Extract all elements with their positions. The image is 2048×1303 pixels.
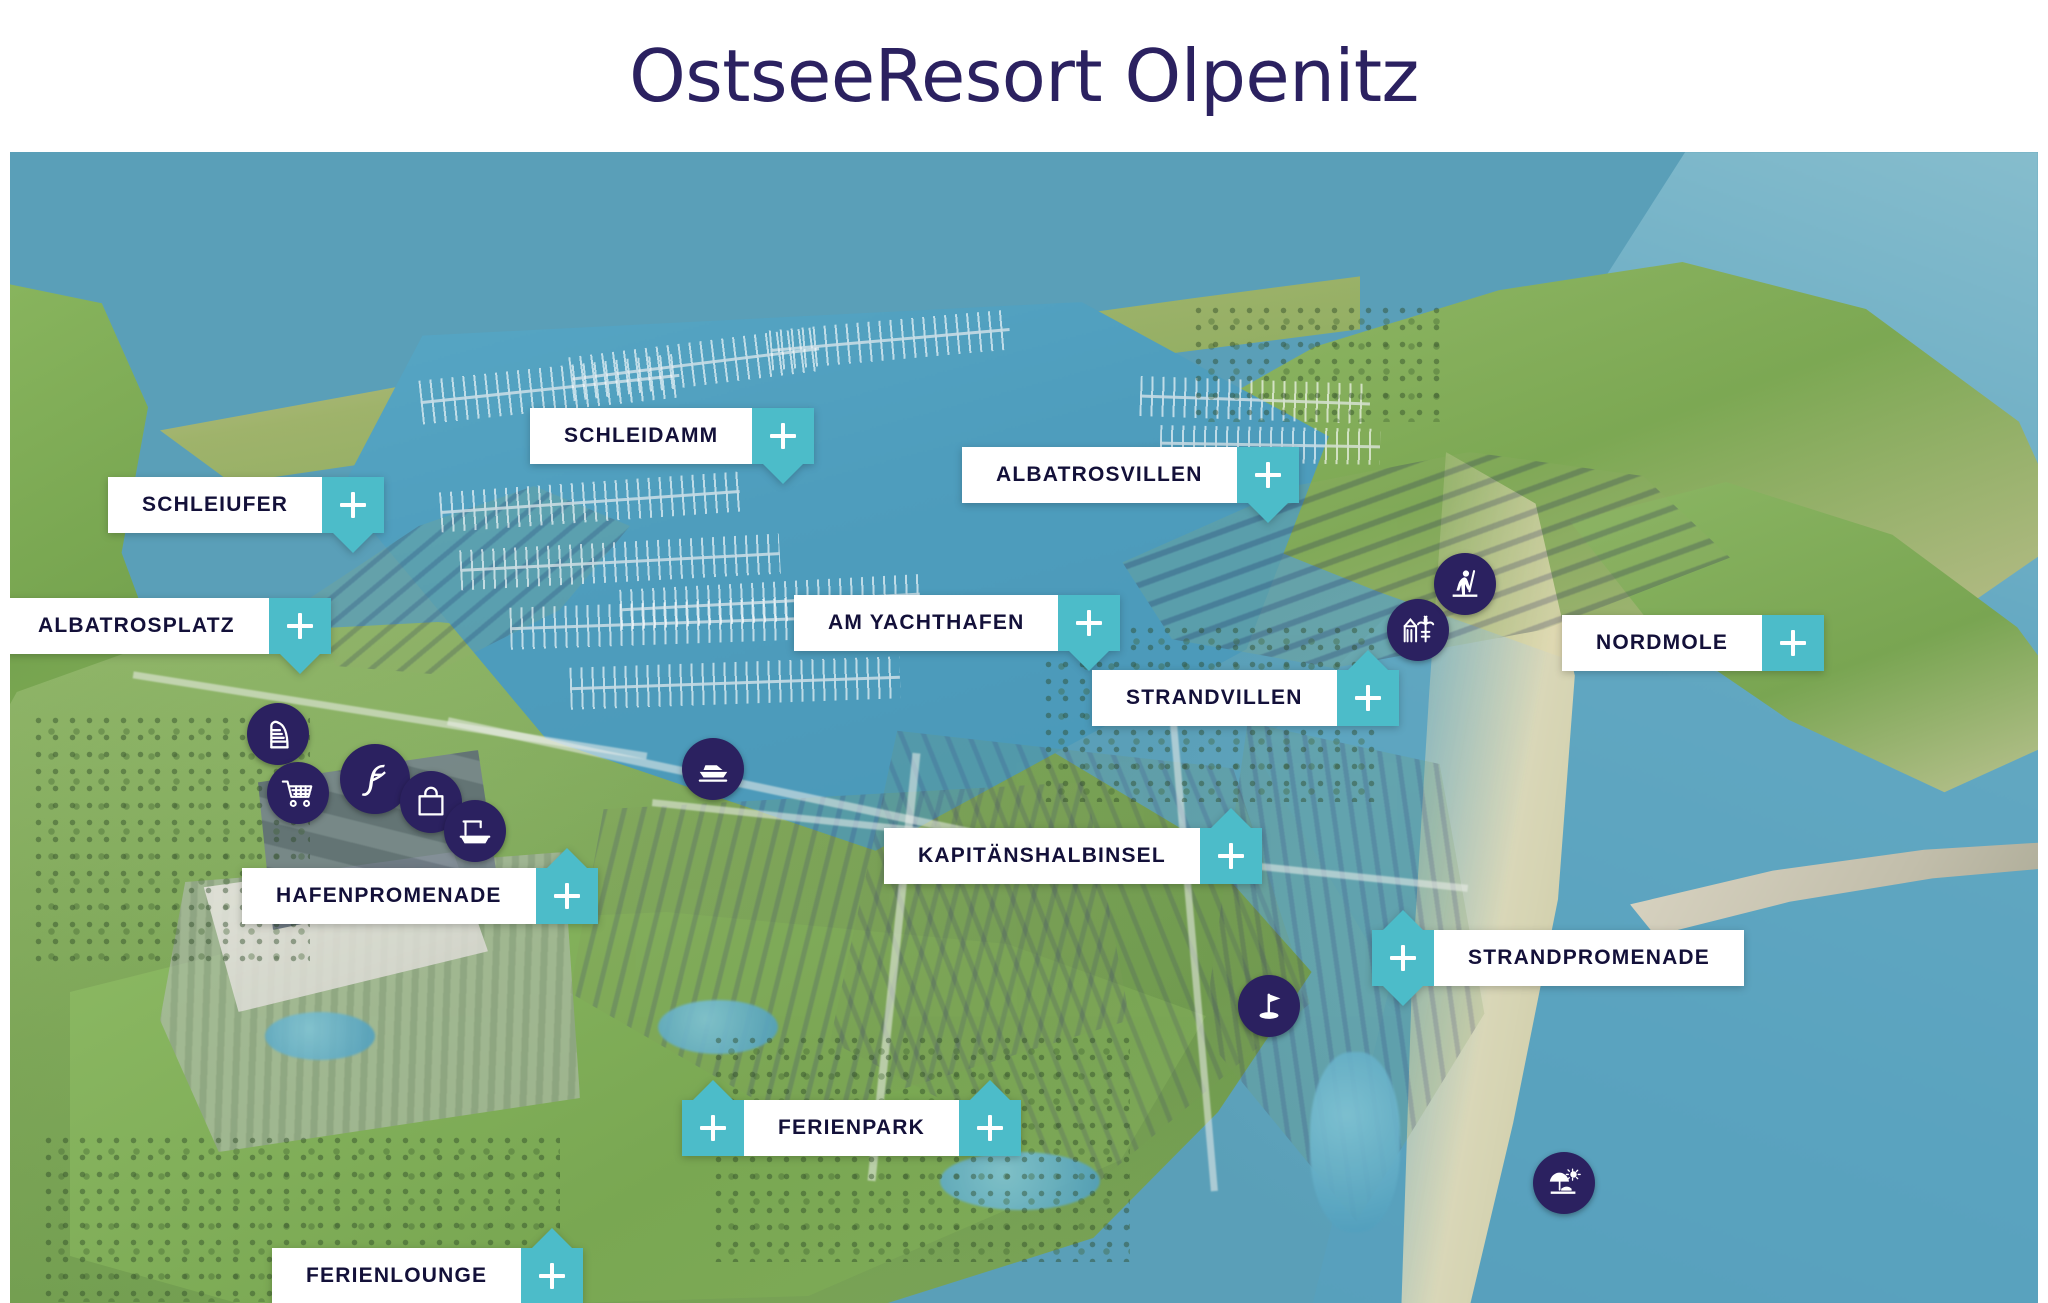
plus-icon [977, 1115, 1003, 1141]
resort-map[interactable]: SCHLEIDAMM SCHLEIUFER ALBATROSVILLEN [10, 152, 2038, 1303]
expand-button-nordmole[interactable] [1762, 615, 1824, 671]
plus-icon [1780, 630, 1806, 656]
map-label-am-yachthafen[interactable]: AM YACHTHAFEN [794, 595, 1120, 651]
map-label-text: STRANDVILLEN [1126, 686, 1303, 710]
map-label-schleidamm[interactable]: SCHLEIDAMM [530, 408, 814, 464]
map-label-albatrosvillen[interactable]: ALBATROSVILLEN [962, 447, 1299, 503]
golf-flag-icon [1250, 987, 1288, 1025]
map-label-plate: ALBATROSVILLEN [962, 447, 1237, 503]
map-label-text: SCHLEIDAMM [564, 424, 718, 448]
expand-button-schleiufer[interactable] [322, 477, 384, 533]
resort-map-page: OstseeResort Olpenitz [0, 0, 2048, 1303]
expand-button-strandvillen[interactable] [1337, 670, 1399, 726]
expand-button-ferienpark-left[interactable] [682, 1100, 744, 1156]
expand-button-am-yachthafen[interactable] [1058, 595, 1120, 651]
plus-icon [1390, 945, 1416, 971]
map-label-plate: STRANDVILLEN [1092, 670, 1337, 726]
poi-playground[interactable] [1387, 599, 1449, 661]
expand-button-albatrosvillen[interactable] [1237, 447, 1299, 503]
poi-beach[interactable] [1533, 1152, 1595, 1214]
map-label-text: SCHLEIUFER [142, 493, 288, 517]
poi-waterslide[interactable] [247, 703, 309, 765]
expand-button-schleidamm[interactable] [752, 408, 814, 464]
map-label-albatrosplatz[interactable]: ALBATROSPLATZ [10, 598, 331, 654]
plus-icon [1255, 462, 1281, 488]
paddleboard-icon [1446, 565, 1484, 603]
poi-motorboat[interactable] [682, 738, 744, 800]
map-label-plate: AM YACHTHAFEN [794, 595, 1058, 651]
plus-icon [1076, 610, 1102, 636]
water-slide-icon [259, 715, 297, 753]
expand-button-strandpromenade[interactable] [1372, 930, 1434, 986]
poi-shopping[interactable] [267, 762, 329, 824]
boat-dock-icon [456, 812, 494, 850]
map-label-text: FERIENPARK [778, 1116, 925, 1140]
map-label-strandvillen[interactable]: STRANDVILLEN [1092, 670, 1399, 726]
expand-button-albatrosplatz[interactable] [269, 598, 331, 654]
map-label-strandpromenade[interactable]: STRANDPROMENADE [1372, 930, 1744, 986]
map-label-plate: FERIENLOUNGE [272, 1248, 521, 1303]
poi-paddleboard[interactable] [1434, 553, 1496, 615]
map-label-plate: ALBATROSPLATZ [10, 598, 269, 654]
shopping-bag-icon [412, 783, 450, 821]
plus-icon [340, 492, 366, 518]
map-label-ferienlounge[interactable]: FERIENLOUNGE [272, 1248, 583, 1303]
map-label-plate: SCHLEIUFER [108, 477, 322, 533]
expand-button-kapitaenshalbinsel[interactable] [1200, 828, 1262, 884]
beach-umbrella-icon [1545, 1164, 1583, 1202]
map-label-text: FERIENLOUNGE [306, 1264, 487, 1288]
plus-icon [287, 613, 313, 639]
map-label-text: ALBATROSVILLEN [996, 463, 1203, 487]
plus-icon [554, 883, 580, 909]
page-title: OstseeResort Olpenitz [629, 34, 1419, 118]
map-label-ferienpark[interactable]: FERIENPARK [682, 1100, 1021, 1156]
map-label-nordmole[interactable]: NORDMOLE [1562, 615, 1824, 671]
plus-icon [700, 1115, 726, 1141]
map-label-text: NORDMOLE [1596, 631, 1728, 655]
plus-icon [1218, 843, 1244, 869]
map-label-hafenpromenade[interactable]: HAFENPROMENADE [242, 868, 598, 924]
map-label-plate: SCHLEIDAMM [530, 408, 752, 464]
playground-icon [1399, 611, 1437, 649]
plus-icon [539, 1263, 565, 1289]
map-pond [1310, 1052, 1400, 1232]
map-pond [265, 1012, 375, 1060]
expand-button-ferienpark-right[interactable] [959, 1100, 1021, 1156]
map-label-plate: HAFENPROMENADE [242, 868, 536, 924]
map-label-text: KAPITÄNSHALBINSEL [918, 844, 1166, 868]
poi-golf[interactable] [1238, 975, 1300, 1037]
poi-boat-dock[interactable] [444, 800, 506, 862]
plus-icon [770, 423, 796, 449]
expand-button-hafenpromenade[interactable] [536, 868, 598, 924]
map-label-schleiufer[interactable]: SCHLEIUFER [108, 477, 384, 533]
f-monogram-icon [353, 757, 397, 801]
map-label-text: HAFENPROMENADE [276, 884, 502, 908]
map-label-kapitaenshalbinsel[interactable]: KAPITÄNSHALBINSEL [884, 828, 1262, 884]
map-label-plate: FERIENPARK [744, 1100, 959, 1156]
map-label-text: ALBATROSPLATZ [38, 614, 235, 638]
expand-button-ferienlounge[interactable] [521, 1248, 583, 1303]
map-label-plate: NORDMOLE [1562, 615, 1762, 671]
map-trees [1190, 302, 1450, 422]
map-label-text: AM YACHTHAFEN [828, 611, 1024, 635]
shopping-cart-icon [279, 774, 317, 812]
map-label-plate: STRANDPROMENADE [1434, 930, 1744, 986]
map-label-plate: KAPITÄNSHALBINSEL [884, 828, 1200, 884]
page-header: OstseeResort Olpenitz [0, 0, 2048, 152]
plus-icon [1355, 685, 1381, 711]
motorboat-icon [694, 750, 732, 788]
map-label-text: STRANDPROMENADE [1468, 946, 1710, 970]
